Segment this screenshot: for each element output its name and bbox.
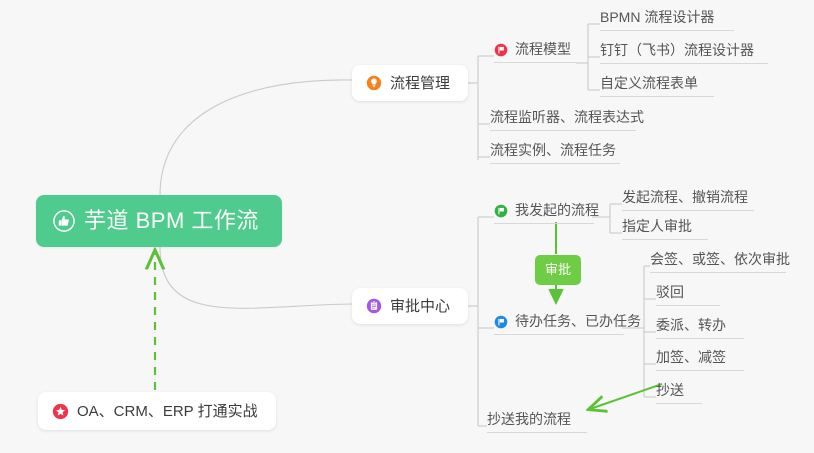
topic-custom-form-label: 自定义流程表单 [600, 76, 698, 91]
topic-assignee-approve-label: 指定人审批 [622, 219, 692, 234]
topic-cc[interactable]: 抄送 [656, 383, 702, 404]
topic-listener-expression-label: 流程监听器、流程表达式 [490, 110, 644, 125]
edge-root-to-process-management [160, 80, 352, 195]
topic-add-remove-sign-label: 加签、减签 [656, 350, 726, 365]
branch-process-management-label: 流程管理 [390, 76, 450, 91]
flag-icon-green [494, 204, 508, 218]
root-node[interactable]: 芋道 BPM 工作流 [36, 195, 282, 247]
topic-delegate-transfer[interactable]: 委派、转办 [656, 318, 744, 339]
thumbs-up-icon [53, 210, 75, 232]
topic-start-cancel[interactable]: 发起流程、撤销流程 [622, 190, 754, 211]
approval-badge-label: 审批 [545, 262, 571, 277]
branch-process-management[interactable]: 流程管理 [352, 65, 468, 101]
topic-multi-approve-label: 会签、或签、依次审批 [650, 252, 790, 267]
mindmap-canvas: 芋道 BPM 工作流 流程管理 审批中心 [0, 0, 814, 453]
topic-bpmn-designer[interactable]: BPMN 流程设计器 [600, 10, 734, 31]
branch-approval-center-label: 审批中心 [390, 299, 450, 314]
topic-add-remove-sign[interactable]: 加签、减签 [656, 350, 744, 371]
flag-icon-blue [494, 315, 508, 329]
topic-cc-to-me[interactable]: 抄送我的流程 [487, 412, 587, 433]
cc-arrow-annotation [590, 384, 662, 409]
topic-bpmn-designer-label: BPMN 流程设计器 [600, 10, 714, 25]
topic-multi-approve[interactable]: 会签、或签、依次审批 [650, 252, 786, 273]
flag-icon-red [494, 43, 508, 57]
topic-listener-expression[interactable]: 流程监听器、流程表达式 [490, 110, 636, 131]
star-icon [52, 403, 69, 420]
topic-todo-done-task[interactable]: 待办任务、已办任务 [494, 314, 624, 335]
topic-instance-task[interactable]: 流程实例、流程任务 [490, 143, 620, 164]
topic-my-initiated[interactable]: 我发起的流程 [494, 203, 594, 224]
topic-reject-label: 驳回 [656, 285, 684, 300]
topic-process-model-label: 流程模型 [515, 42, 571, 57]
branch-approval-center[interactable]: 审批中心 [352, 288, 468, 324]
clipboard-icon [366, 298, 382, 314]
topic-process-model[interactable]: 流程模型 [494, 42, 578, 63]
topic-start-cancel-label: 发起流程、撤销流程 [622, 190, 748, 205]
topic-my-initiated-label: 我发起的流程 [515, 203, 599, 218]
topic-assignee-approve[interactable]: 指定人审批 [622, 219, 708, 240]
topic-instance-task-label: 流程实例、流程任务 [490, 143, 616, 158]
topic-custom-form[interactable]: 自定义流程表单 [600, 76, 714, 97]
root-label: 芋道 BPM 工作流 [84, 210, 259, 232]
topic-dingtalk-designer[interactable]: 钉钉（飞书）流程设计器 [600, 43, 768, 64]
topic-todo-done-task-label: 待办任务、已办任务 [515, 314, 641, 329]
topic-delegate-transfer-label: 委派、转办 [656, 318, 726, 333]
lightbulb-icon [366, 75, 382, 91]
approval-badge[interactable]: 审批 [535, 255, 581, 285]
edge-root-to-approval-center [160, 247, 352, 308]
topic-cc-to-me-label: 抄送我的流程 [487, 412, 571, 427]
topic-cc-label: 抄送 [656, 383, 684, 398]
topic-reject[interactable]: 驳回 [656, 285, 720, 306]
integration-note[interactable]: OA、CRM、ERP 打通实战 [38, 392, 276, 430]
integration-note-label: OA、CRM、ERP 打通实战 [77, 404, 258, 419]
topic-dingtalk-designer-label: 钉钉（飞书）流程设计器 [600, 43, 754, 58]
